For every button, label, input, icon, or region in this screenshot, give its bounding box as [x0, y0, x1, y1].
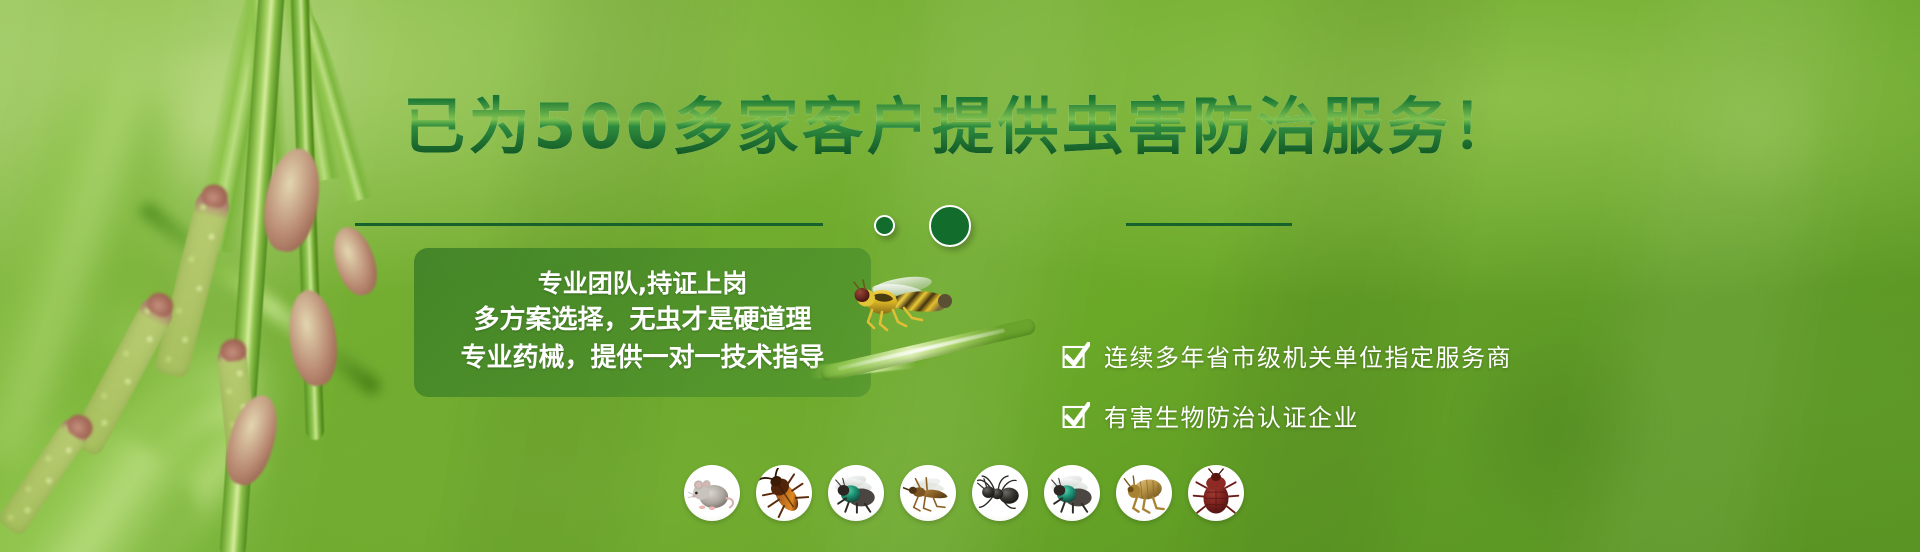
feature-highlight-panel: 专业团队,持证上岗 多方案选择，无虫才是硬道理 专业药械，提供一对一技术指导	[414, 248, 871, 397]
credential-item: 有害生物防治认证企业	[1062, 398, 1512, 433]
credential-item: 连续多年省市级机关单位指定服务商	[1062, 338, 1512, 373]
headline-text: 已为500多家客户提供虫害防治服务！	[403, 76, 1516, 166]
hoverfly-icon	[846, 274, 954, 336]
housefly-icon	[828, 465, 884, 521]
credentials-list: 连续多年省市级机关单位指定服务商 有害生物防治认证企业	[1062, 338, 1512, 433]
checkbox-checked-icon	[1062, 342, 1090, 370]
decorative-divider-row	[0, 207, 1920, 241]
small-circle-dot-icon	[874, 215, 895, 236]
mosquito-icon	[900, 465, 956, 521]
banner-headline: 已为500多家客户提供虫害防治服务！ 已为500多家客户提供虫害防治服务！	[0, 76, 1920, 166]
checkbox-checked-icon	[1062, 402, 1090, 430]
bedbug-icon	[1188, 465, 1244, 521]
horizontal-rule-left-icon	[355, 223, 823, 226]
flea-icon	[1116, 465, 1172, 521]
horizontal-rule-right-icon	[1126, 223, 1292, 226]
credential-label: 有害生物防治认证企业	[1104, 398, 1359, 433]
cockroach-icon	[756, 465, 812, 521]
blowfly-icon	[1044, 465, 1100, 521]
pest-control-promo-banner: 已为500多家客户提供虫害防治服务！ 已为500多家客户提供虫害防治服务！ 专业…	[0, 0, 1920, 552]
ant-icon	[972, 465, 1028, 521]
feature-line-3: 专业药械，提供一对一技术指导	[460, 341, 824, 376]
pest-type-icon-row	[684, 465, 1244, 521]
credential-label: 连续多年省市级机关单位指定服务商	[1104, 338, 1512, 373]
rat-icon	[684, 465, 740, 521]
large-circle-dot-icon	[929, 205, 971, 247]
feature-line-1: 专业团队,持证上岗	[538, 267, 748, 301]
feature-line-2: 多方案选择，无虫才是硬道理	[473, 303, 811, 338]
